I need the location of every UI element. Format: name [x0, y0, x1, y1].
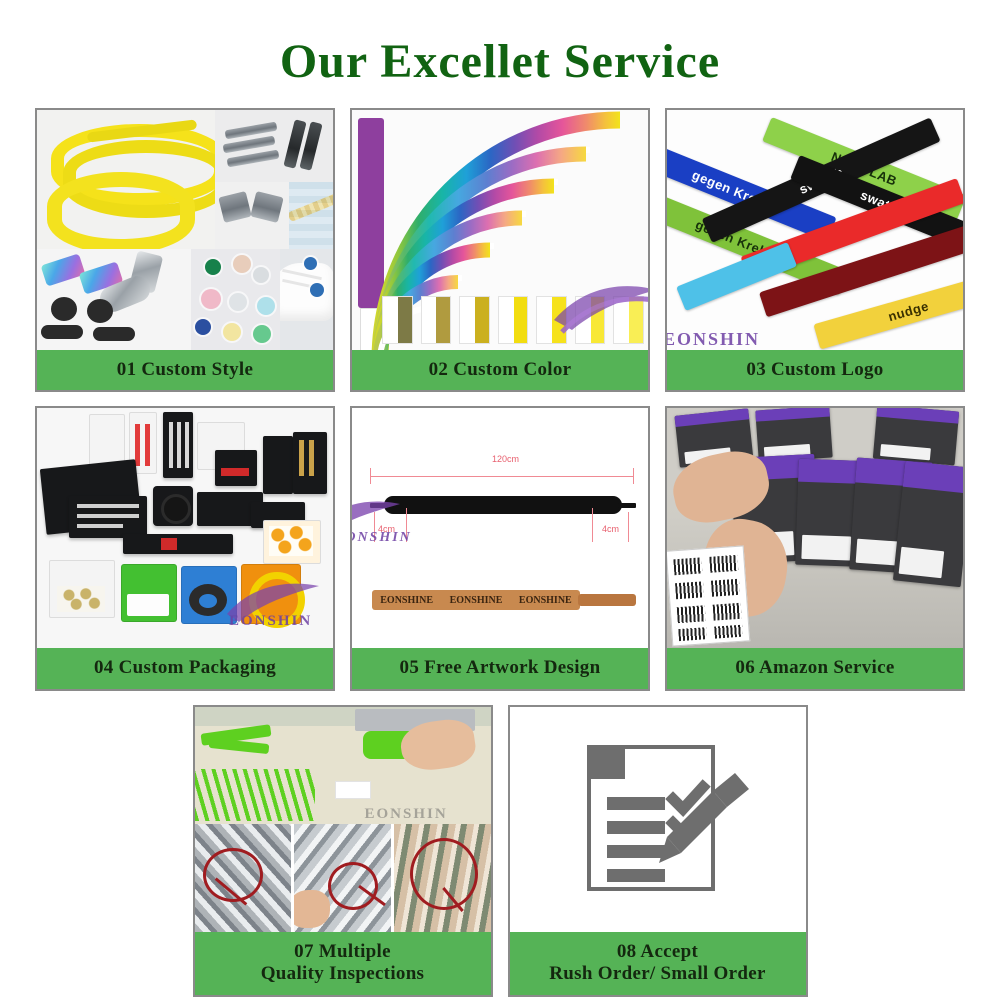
dimension-tip-left: 4cm [378, 524, 395, 534]
caption-line-1: 07 Multiple [294, 941, 391, 962]
caption-line-1: 08 Accept [617, 941, 698, 962]
defect-photo-2 [294, 824, 391, 932]
caption-line-1: 02 Custom Color [429, 359, 572, 380]
defect-closeup-photos [195, 824, 491, 932]
watermark-text: EONSHIN [667, 329, 760, 350]
amazon-service-photo [667, 408, 963, 648]
page-title: Our Excellet Service [0, 0, 1000, 86]
barcode-label-sheet [667, 546, 750, 647]
lace-print-1: EONSHINE [380, 595, 433, 606]
infographic-page: Our Excellet Service [0, 0, 1000, 1000]
gold-lace-sneaker-photo [289, 182, 333, 249]
service-card-quality-inspections[interactable]: EONSHIN 07 Multiple Quality Inspections [193, 705, 493, 997]
jewel-charms-photo [191, 249, 280, 350]
caption-free-artwork-design: 05 Free Artwork Design [352, 648, 648, 688]
caption-rush-order: 08 Accept Rush Order/ Small Order [510, 932, 806, 995]
service-card-amazon-service[interactable]: 06 Amazon Service [665, 406, 965, 690]
caption-amazon-service: 06 Amazon Service [667, 648, 963, 688]
custom-style-photo [37, 110, 333, 350]
caption-custom-color: 02 Custom Color [352, 350, 648, 390]
caption-quality-inspections: 07 Multiple Quality Inspections [195, 932, 491, 995]
metal-aglets-photo [215, 110, 333, 182]
caption-line-1: 03 Custom Logo [746, 359, 883, 380]
service-card-rush-order[interactable]: 08 Accept Rush Order/ Small Order [508, 705, 808, 997]
custom-packaging-photo: EONSHIN [37, 408, 333, 648]
service-card-custom-logo[interactable]: gegen Krebs! gegen Krebs! NCT - LAB swat… [665, 108, 965, 392]
quality-inspection-photo: EONSHIN [195, 707, 491, 932]
service-card-custom-packaging[interactable]: EONSHIN 04 Custom Packaging [35, 406, 335, 690]
lace-locks-photo [37, 249, 191, 350]
lace-print-2: EONSHINE [450, 595, 503, 606]
pantone-fan-deck [352, 110, 648, 350]
service-card-custom-color[interactable]: 02 Custom Color [350, 108, 650, 392]
service-card-grid-bottom-row: EONSHIN 07 Multiple Quality Inspections [35, 705, 965, 997]
swatch-card-tips [382, 290, 644, 344]
artwork-design-drawing: 120cm 4cm 4cm EONSHINE EONSHINE [352, 408, 648, 648]
custom-color-photo [352, 110, 648, 350]
inspection-table-photo [195, 707, 491, 824]
dimension-total-length: 120cm [492, 454, 519, 464]
yellow-shoelaces-photo [37, 110, 215, 249]
dimension-tip-right: 4cm [602, 524, 619, 534]
lace-print-3: EONSHINE [519, 595, 572, 606]
service-card-custom-style[interactable]: 01 Custom Style [35, 108, 335, 392]
caption-line-2: Rush Order/ Small Order [514, 963, 802, 985]
service-card-free-artwork-design[interactable]: 120cm 4cm 4cm EONSHINE EONSHINE [350, 406, 650, 690]
service-card-grid: 01 Custom Style [35, 108, 965, 691]
caption-line-2: Quality Inspections [199, 963, 487, 985]
caption-line-1: 06 Amazon Service [735, 657, 894, 678]
caption-custom-packaging: 04 Custom Packaging [37, 648, 333, 688]
caption-custom-logo: 03 Custom Logo [667, 350, 963, 390]
white-sneaker-photo [280, 249, 333, 350]
metal-clips-photo [215, 182, 289, 249]
caption-custom-style: 01 Custom Style [37, 350, 333, 390]
rush-order-icon-area [510, 707, 806, 932]
caption-line-1: 04 Custom Packaging [94, 657, 276, 678]
printed-lace-sample: EONSHINE EONSHINE EONSHINE [372, 590, 580, 610]
defect-photo-1 [195, 824, 292, 932]
defect-photo-3 [394, 824, 491, 932]
custom-logo-photo: gegen Krebs! gegen Krebs! NCT - LAB swat… [667, 110, 963, 350]
caption-line-1: 01 Custom Style [117, 359, 253, 380]
lanyard-print-text: nudge [886, 298, 930, 324]
caption-line-1: 05 Free Artwork Design [400, 657, 601, 678]
checklist-document-icon [563, 739, 753, 899]
